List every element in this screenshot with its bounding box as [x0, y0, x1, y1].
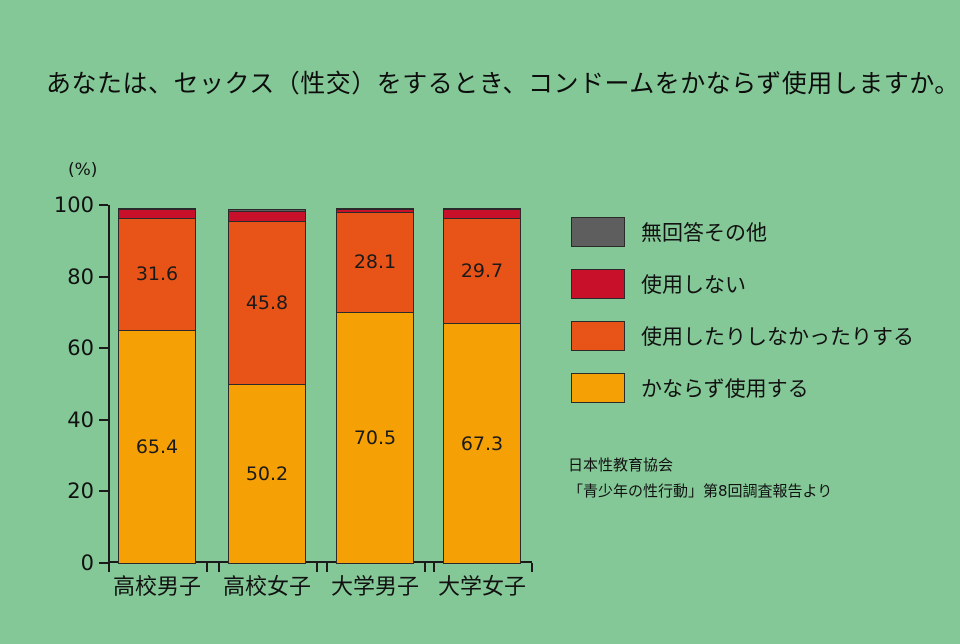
legend-label-none: 使用しない [641, 269, 746, 299]
y-tick-label: 80 [67, 265, 94, 289]
x-axis-label-大学男子: 大学男子 [331, 569, 419, 601]
bar-value-label: 50.2 [229, 463, 305, 485]
bar-segment-always[interactable]: 65.4 [118, 330, 196, 564]
bar-高校男子[interactable]: 31.665.4高校男子 [118, 208, 196, 563]
legend-label-other: 無回答その他 [641, 217, 767, 247]
bar-segment-some[interactable]: 31.6 [118, 218, 196, 331]
y-tick-label: 40 [67, 408, 94, 432]
bar-value-label: 28.1 [337, 251, 413, 273]
bar-大学男子[interactable]: 28.170.5大学男子 [336, 208, 414, 563]
bar-value-label: 45.8 [229, 292, 305, 314]
x-tick-mark [206, 563, 208, 572]
bar-segment-always[interactable]: 50.2 [228, 384, 306, 564]
chart-page: あなたは、セックス（性交）をするとき、コンドームをかならず使用しますか。 (%)… [0, 0, 960, 644]
y-tick-label: 60 [67, 336, 94, 360]
legend-swatch-some [571, 321, 625, 351]
legend-item-always[interactable]: かならず使用する [571, 362, 911, 414]
chart-legend: 無回答その他使用しない使用したりしなかったりするかならず使用する [571, 206, 911, 414]
x-axis-label-高校女子: 高校女子 [223, 569, 311, 601]
y-tick-mark [99, 562, 108, 564]
bar-value-label: 31.6 [119, 263, 195, 285]
bar-segment-always[interactable]: 70.5 [336, 312, 414, 564]
chart-title: あなたは、セックス（性交）をするとき、コンドームをかならず使用しますか。 [46, 64, 960, 100]
y-tick-mark [99, 419, 108, 421]
source-line-2: 「青少年の性行動」第8回調査報告より [568, 478, 832, 504]
legend-item-other[interactable]: 無回答その他 [571, 206, 911, 258]
x-tick-mark [424, 563, 426, 572]
x-tick-mark [433, 563, 435, 572]
y-tick-mark [99, 347, 108, 349]
y-axis-line [108, 205, 110, 563]
legend-item-none[interactable]: 使用しない [571, 258, 911, 310]
legend-swatch-other [571, 217, 625, 247]
y-tick-mark [99, 276, 108, 278]
x-tick-mark [316, 563, 318, 572]
legend-label-always: かならず使用する [641, 373, 809, 403]
bar-高校女子[interactable]: 45.850.2高校女子 [228, 209, 306, 563]
legend-swatch-always [571, 373, 625, 403]
bar-segment-always[interactable]: 67.3 [443, 323, 521, 564]
legend-swatch-none [571, 269, 625, 299]
bar-segment-some[interactable]: 45.8 [228, 221, 306, 385]
y-tick-mark [99, 490, 108, 492]
y-tick-mark [99, 204, 108, 206]
bar-value-label: 70.5 [337, 427, 413, 449]
bar-segment-some[interactable]: 29.7 [443, 218, 521, 324]
source-line-1: 日本性教育協会 [568, 452, 832, 478]
bar-value-label: 29.7 [444, 260, 520, 282]
bar-segment-some[interactable]: 28.1 [336, 212, 414, 313]
x-tick-mark [531, 563, 533, 572]
x-axis-label-高校男子: 高校男子 [113, 569, 201, 601]
y-tick-label: 100 [54, 193, 94, 217]
y-tick-label: 0 [81, 551, 94, 575]
y-axis-unit-label: (%) [68, 160, 97, 180]
x-axis-label-大学女子: 大学女子 [438, 569, 526, 601]
y-tick-label: 20 [67, 479, 94, 503]
bar-value-label: 67.3 [444, 433, 520, 455]
legend-label-some: 使用したりしなかったりする [641, 321, 914, 351]
bar-大学女子[interactable]: 29.767.3大学女子 [443, 208, 521, 563]
plot-area: 020406080100 31.665.4高校男子45.850.2高校女子28.… [108, 205, 532, 563]
x-tick-mark [108, 563, 110, 572]
source-attribution: 日本性教育協会 「青少年の性行動」第8回調査報告より [568, 452, 832, 505]
x-tick-mark [218, 563, 220, 572]
legend-item-some[interactable]: 使用したりしなかったりする [571, 310, 911, 362]
x-tick-mark [326, 563, 328, 572]
bar-value-label: 65.4 [119, 436, 195, 458]
